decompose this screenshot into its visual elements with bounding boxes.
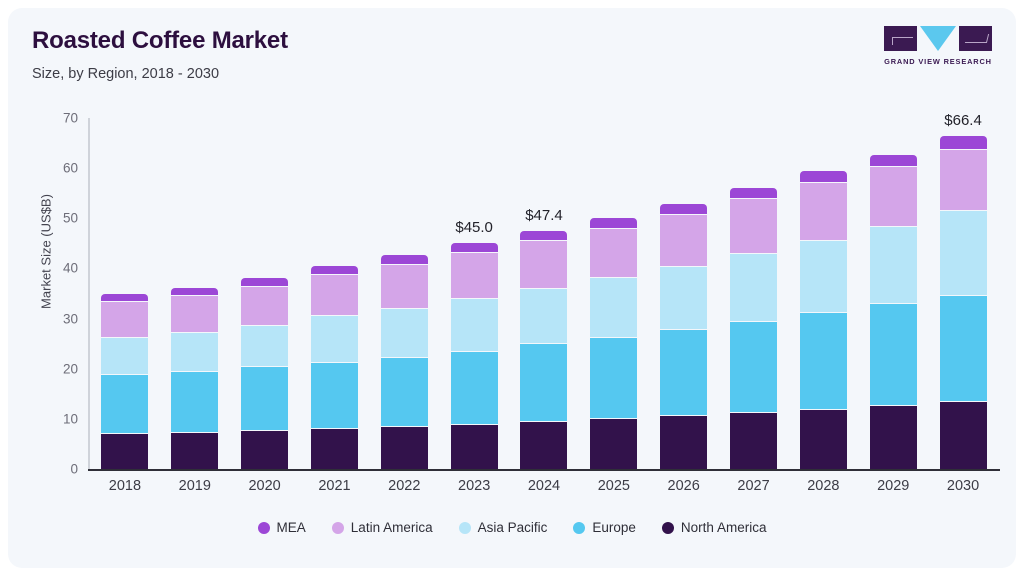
bar-segment[interactable]	[660, 416, 707, 469]
legend-label: MEA	[277, 520, 306, 535]
bar-segment[interactable]	[381, 309, 428, 358]
bar-segment[interactable]	[311, 275, 358, 316]
y-axis-tick-label: 10	[32, 411, 78, 426]
chart-legend: MEALatin AmericaAsia PacificEuropeNorth …	[8, 520, 1016, 535]
bar-segment[interactable]	[241, 431, 288, 469]
y-axis-tick-label: 50	[32, 211, 78, 226]
x-axis-tick-label: 2028	[788, 478, 858, 494]
bar-segment[interactable]	[311, 363, 358, 430]
bar-segment[interactable]	[590, 218, 637, 229]
bar-column[interactable]	[788, 118, 858, 469]
legend-item[interactable]: Latin America	[332, 520, 433, 535]
bar-segment[interactable]	[311, 429, 358, 469]
x-axis-tick-label: 2030	[928, 478, 998, 494]
x-axis-tick-label: 2018	[90, 478, 160, 494]
bar-column[interactable]	[230, 118, 300, 469]
bar-stack[interactable]	[381, 255, 428, 469]
bar-segment[interactable]	[381, 358, 428, 427]
bar-value-label: $47.4	[525, 207, 563, 224]
bar-stack[interactable]	[730, 188, 777, 469]
bar-segment[interactable]	[101, 338, 148, 376]
bar-stack[interactable]	[101, 294, 148, 469]
bar-segment[interactable]	[520, 289, 567, 345]
bar-stack[interactable]: $66.4	[940, 136, 987, 469]
bar-segment[interactable]	[940, 150, 987, 212]
x-axis-tick-label: 2026	[649, 478, 719, 494]
bar-segment[interactable]	[171, 372, 218, 433]
chart-screenshot: Roasted Coffee Market Size, by Region, 2…	[0, 0, 1024, 576]
bar-segment[interactable]	[660, 215, 707, 267]
bar-segment[interactable]	[660, 330, 707, 417]
bar-segment[interactable]	[940, 402, 987, 469]
legend-label: North America	[681, 520, 767, 535]
bar-segment[interactable]	[590, 338, 637, 420]
bar-segment[interactable]	[520, 231, 567, 241]
y-axis-tick-label: 20	[32, 361, 78, 376]
bar-segment[interactable]	[660, 204, 707, 215]
bar-value-label: $45.0	[455, 219, 493, 236]
bar-segment[interactable]	[800, 313, 847, 410]
bar-segment[interactable]	[730, 413, 777, 469]
bar-segment[interactable]	[590, 419, 637, 469]
bar-stack[interactable]	[800, 171, 847, 469]
bar-segment[interactable]	[171, 433, 218, 469]
legend-item[interactable]: Europe	[573, 520, 636, 535]
legend-label: Latin America	[351, 520, 433, 535]
bar-segment[interactable]	[520, 241, 567, 288]
bar-segment[interactable]	[381, 265, 428, 309]
y-axis-tick-label: 70	[32, 111, 78, 126]
x-axis-tick-label: 2024	[509, 478, 579, 494]
bar-column[interactable]	[300, 118, 370, 469]
bar-column[interactable]	[90, 118, 160, 469]
x-axis-tick-label: 2029	[858, 478, 928, 494]
bar-segment[interactable]	[520, 344, 567, 422]
bar-stack[interactable]	[171, 288, 218, 469]
bar-segment[interactable]	[940, 296, 987, 402]
bar-stack[interactable]	[590, 218, 637, 469]
bar-segment[interactable]	[171, 288, 218, 297]
x-axis-tick-label: 2021	[300, 478, 370, 494]
bar-segment[interactable]	[171, 333, 218, 372]
bar-segment[interactable]	[451, 253, 498, 299]
bar-segment[interactable]	[381, 427, 428, 469]
bar-segment[interactable]	[311, 266, 358, 275]
legend-swatch-icon	[662, 522, 674, 534]
bar-segment[interactable]	[381, 255, 428, 265]
x-axis-tick-label: 2027	[719, 478, 789, 494]
bar-stack[interactable]	[311, 266, 358, 469]
bar-column[interactable]: $45.0	[439, 118, 509, 469]
bar-segment[interactable]	[241, 367, 288, 431]
legend-item[interactable]: Asia Pacific	[459, 520, 548, 535]
bar-series-group: $45.0$47.4$66.4	[90, 118, 998, 469]
bar-segment[interactable]	[730, 188, 777, 200]
bar-column[interactable]	[649, 118, 719, 469]
bar-segment[interactable]	[451, 352, 498, 425]
bar-column[interactable]: $47.4	[509, 118, 579, 469]
bar-segment[interactable]	[800, 410, 847, 469]
x-axis-line	[88, 469, 1000, 471]
bar-segment[interactable]	[451, 243, 498, 253]
bar-value-label: $66.4	[944, 112, 982, 129]
x-axis-tick-label: 2023	[439, 478, 509, 494]
bar-column[interactable]: $66.4	[928, 118, 998, 469]
bar-segment[interactable]	[101, 294, 148, 302]
plot-area: Market Size (US$B) 010203040506070 $45.0…	[8, 8, 1016, 568]
bar-segment[interactable]	[870, 227, 917, 304]
x-axis-tick-label: 2019	[160, 478, 230, 494]
bar-segment[interactable]	[940, 136, 987, 150]
bar-segment[interactable]	[870, 304, 917, 406]
bar-stack[interactable]: $45.0	[451, 243, 498, 469]
bar-segment[interactable]	[870, 406, 917, 469]
bar-segment[interactable]	[590, 278, 637, 337]
bar-column[interactable]	[160, 118, 230, 469]
y-axis-tick-label: 30	[32, 311, 78, 326]
legend-label: Asia Pacific	[478, 520, 548, 535]
legend-swatch-icon	[332, 522, 344, 534]
bar-segment[interactable]	[730, 254, 777, 322]
bar-segment[interactable]	[730, 322, 777, 413]
x-axis-tick-label: 2020	[230, 478, 300, 494]
y-axis-tick-label: 40	[32, 261, 78, 276]
x-axis-tick-label: 2025	[579, 478, 649, 494]
x-axis-ticks: 2018201920202021202220232024202520262027…	[90, 478, 998, 494]
bar-column[interactable]	[579, 118, 649, 469]
bar-segment[interactable]	[241, 326, 288, 367]
legend-swatch-icon	[258, 522, 270, 534]
bar-segment[interactable]	[520, 422, 567, 469]
bar-segment[interactable]	[101, 434, 148, 469]
bar-segment[interactable]	[800, 241, 847, 313]
bar-segment[interactable]	[451, 299, 498, 352]
bar-column[interactable]	[858, 118, 928, 469]
bar-segment[interactable]	[870, 167, 917, 227]
bar-segment[interactable]	[800, 171, 847, 183]
bar-column[interactable]	[719, 118, 789, 469]
bar-segment[interactable]	[101, 302, 148, 338]
bar-segment[interactable]	[590, 229, 637, 279]
y-axis-tick-label: 60	[32, 161, 78, 176]
bar-segment[interactable]	[660, 267, 707, 330]
bar-segment[interactable]	[451, 425, 498, 469]
bar-stack[interactable]: $47.4	[520, 231, 567, 469]
legend-swatch-icon	[459, 522, 471, 534]
legend-item[interactable]: North America	[662, 520, 767, 535]
legend-item[interactable]: MEA	[258, 520, 306, 535]
bar-segment[interactable]	[101, 375, 148, 434]
bar-segment[interactable]	[940, 211, 987, 296]
y-axis-tick-label: 0	[32, 462, 78, 477]
bar-stack[interactable]	[660, 204, 707, 469]
bar-segment[interactable]	[311, 316, 358, 363]
legend-swatch-icon	[573, 522, 585, 534]
bar-stack[interactable]	[241, 278, 288, 470]
legend-label: Europe	[592, 520, 636, 535]
bar-segment[interactable]	[241, 278, 288, 287]
y-axis-ticks: 010203040506070	[32, 8, 78, 568]
chart-card: Roasted Coffee Market Size, by Region, 2…	[8, 8, 1016, 568]
bar-segment[interactable]	[730, 199, 777, 254]
bar-column[interactable]	[369, 118, 439, 469]
bar-segment[interactable]	[870, 155, 917, 168]
bar-stack[interactable]	[870, 155, 917, 469]
bar-segment[interactable]	[171, 296, 218, 333]
bar-segment[interactable]	[241, 287, 288, 327]
bar-segment[interactable]	[800, 183, 847, 241]
x-axis-tick-label: 2022	[369, 478, 439, 494]
